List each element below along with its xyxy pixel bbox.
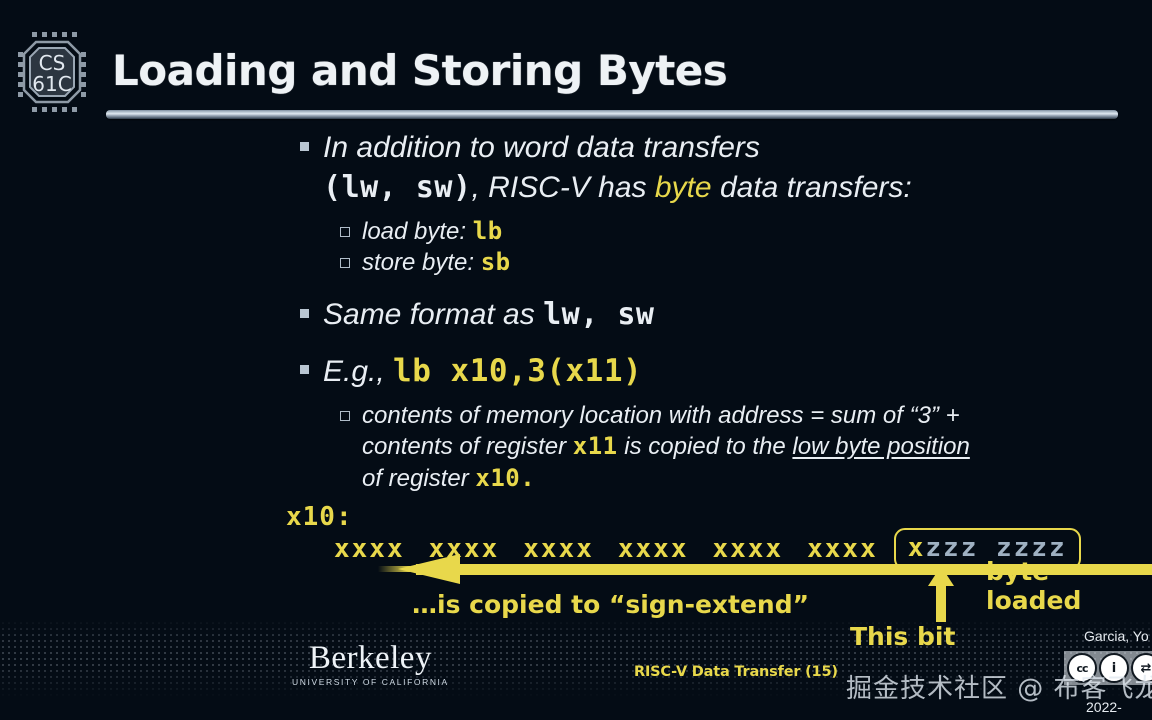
bullet-text-segment: s — [520, 298, 543, 331]
year-label: 2022- — [1086, 699, 1122, 715]
sub-bullet-text: contents of memory location with address… — [362, 400, 970, 494]
bullet-square-icon — [300, 309, 309, 318]
sub-bullet-load-byte: load byte: lb — [340, 216, 1140, 247]
sub-bullet-square-icon — [340, 227, 350, 237]
title-divider-rule — [106, 110, 1118, 119]
berkeley-subtitle: UNIVERSITY OF CALIFORNIA — [292, 677, 449, 687]
berkeley-wordmark: Berkeley — [292, 642, 449, 675]
page-title: Loading and Storing Bytes — [112, 46, 727, 95]
code-x10: x10. — [475, 464, 535, 492]
logo-text-line2: 61C — [32, 72, 71, 96]
footer-dot-pattern — [0, 620, 1152, 698]
code-lw-sw: lw, sw — [342, 170, 453, 205]
deck-title-footer: RISC-V Data Transfer (15) — [634, 664, 838, 680]
this-bit-up-arrow-icon — [928, 566, 954, 622]
nibble-group: xxxx — [523, 534, 594, 564]
slide-canvas: CS 61C Loading and Storing Bytes In addi… — [0, 0, 1152, 720]
cc-by-person-icon: i — [1099, 653, 1129, 683]
bullet-square-icon — [300, 142, 309, 151]
bullet-text-segment: Same format a — [323, 298, 520, 331]
berkeley-logo: Berkeley UNIVERSITY OF CALIFORNIA — [292, 642, 449, 687]
bullet-text: In addition to word data transfers(lw, s… — [323, 128, 912, 208]
bullet-square-icon — [300, 365, 309, 374]
code-lw-sw: lw, sw — [543, 297, 654, 332]
cs61c-chip-logo: CS 61C — [12, 26, 92, 118]
paren-open: ( — [323, 170, 342, 205]
semantics-line-1: contents of memory location with address… — [362, 402, 960, 429]
bullet-text-segment: , RISC-V has — [472, 171, 655, 204]
annotation-byte-loaded-line1: byte — [986, 558, 1081, 587]
example-label: E.g., — [323, 355, 393, 388]
bullet-text: E.g., lb x10,3(x11) — [323, 351, 642, 392]
bullet-text-segment: In addition to word data transfers — [323, 131, 760, 164]
sign-bit: x — [908, 533, 926, 563]
sub-bullet-text: store byte: sb — [362, 247, 511, 278]
nibble-group: xxxx — [713, 534, 784, 564]
nibble-group: xxxx — [807, 534, 878, 564]
code-lb: lb — [473, 217, 503, 245]
sub-bullet-label: store byte: — [362, 249, 481, 276]
annotation-this-bit: This bit — [850, 622, 955, 651]
creative-commons-badges: cc i ⇄ Ⓝ — [1064, 651, 1152, 685]
bullet-item-example: E.g., lb x10,3(x11) — [300, 351, 1140, 392]
code-lb-instruction: lb x10,3(x11) — [393, 353, 642, 389]
code-sb: sb — [481, 248, 511, 276]
sub-bullet-store-byte: store byte: sb — [340, 247, 1140, 278]
nibble-group: xxxx — [618, 534, 689, 564]
sub-bullet-semantics: contents of memory location with address… — [340, 400, 1140, 494]
cc-sharealike-icon: ⇄ — [1131, 653, 1152, 683]
slide-body: In addition to word data transfers(lw, s… — [300, 128, 1140, 494]
bullet-text-segment: data transfers: — [712, 171, 912, 204]
nibble-group: xxxx — [334, 534, 405, 564]
semantics-line-2a: contents of register — [362, 433, 573, 460]
semantics-line-3a: of register — [362, 465, 475, 492]
underlined-low-byte-position: low byte position — [792, 433, 969, 460]
annotation-byte-loaded: byte loaded — [986, 558, 1081, 616]
sub-bullet-label: load byte: — [362, 218, 473, 245]
paren-close: ) — [453, 170, 472, 205]
annotation-byte-loaded-line2: loaded — [986, 587, 1081, 616]
sub-bullet-square-icon — [340, 411, 350, 421]
bullet-text: Same format as lw, sw — [323, 295, 654, 335]
sub-bullet-text: load byte: lb — [362, 216, 503, 247]
author-credit: Garcia, Yo — [1084, 628, 1149, 644]
annotation-sign-extend: …is copied to “sign-extend” — [412, 590, 809, 619]
semantics-line-2b: is copied to the — [618, 433, 793, 460]
bullet-item-same-format: Same format as lw, sw — [300, 295, 1140, 335]
highlight-byte: byte — [655, 171, 712, 204]
sub-bullet-square-icon — [340, 258, 350, 268]
bullet-item-word-transfers: In addition to word data transfers(lw, s… — [300, 128, 1140, 208]
cc-logo-icon: cc — [1067, 653, 1097, 683]
code-x11: x11 — [573, 432, 618, 460]
